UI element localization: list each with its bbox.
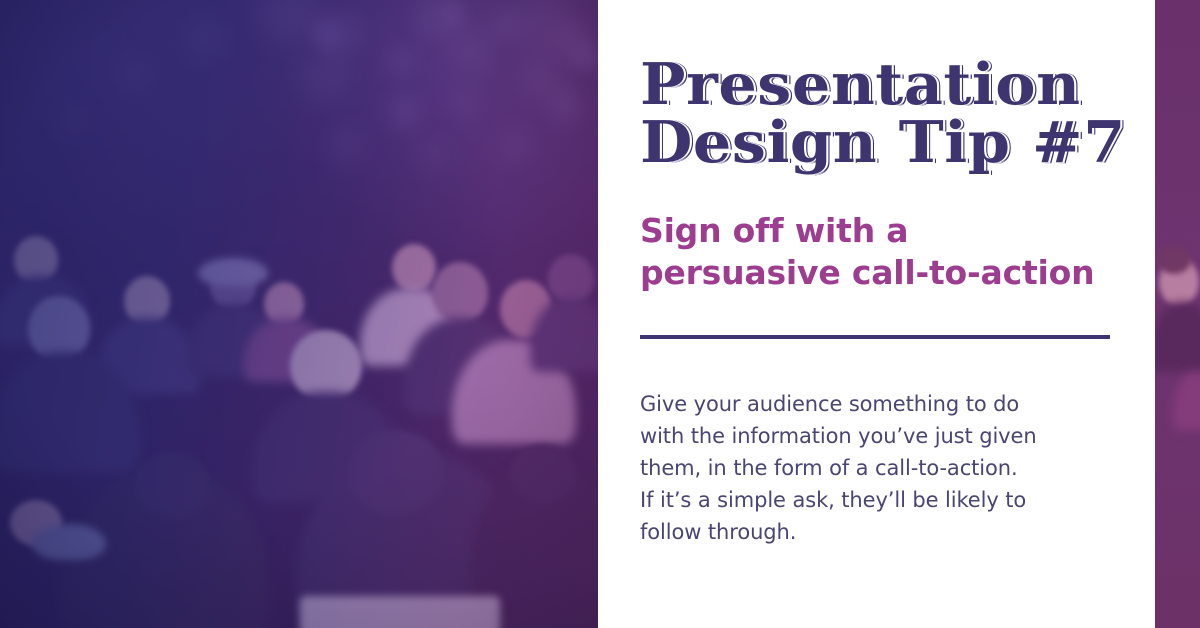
slide-canvas: Presentation Design Tip #7 Sign off with… <box>0 0 1200 628</box>
divider <box>640 335 1110 339</box>
subtitle-line-2: call-to-action <box>852 253 1095 292</box>
body-text-line-4: If it’s a simple ask, they’ll be likely … <box>640 484 1118 516</box>
body-text-line-2: with the information you’ve just given <box>640 420 1118 452</box>
page-title: Presentation Design Tip #7 <box>640 56 1140 172</box>
photo-vignette <box>0 0 598 628</box>
subtitle: Sign off with a persuasive call-to-actio… <box>640 210 1110 294</box>
body-text: Give your audience something to do with … <box>640 388 1118 548</box>
body-text-line-3: them, in the form of a call-to-action. <box>640 452 1118 484</box>
audience-photo-panel <box>0 0 598 628</box>
body-text-line-1: Give your audience something to do <box>640 388 1118 420</box>
page-title-line-2: Design Tip #7 <box>640 114 1170 172</box>
text-panel: Presentation Design Tip #7 Sign off with… <box>598 0 1155 628</box>
page-title-line-1: Presentation <box>640 56 1170 114</box>
body-text-line-5: follow through. <box>640 516 1118 548</box>
